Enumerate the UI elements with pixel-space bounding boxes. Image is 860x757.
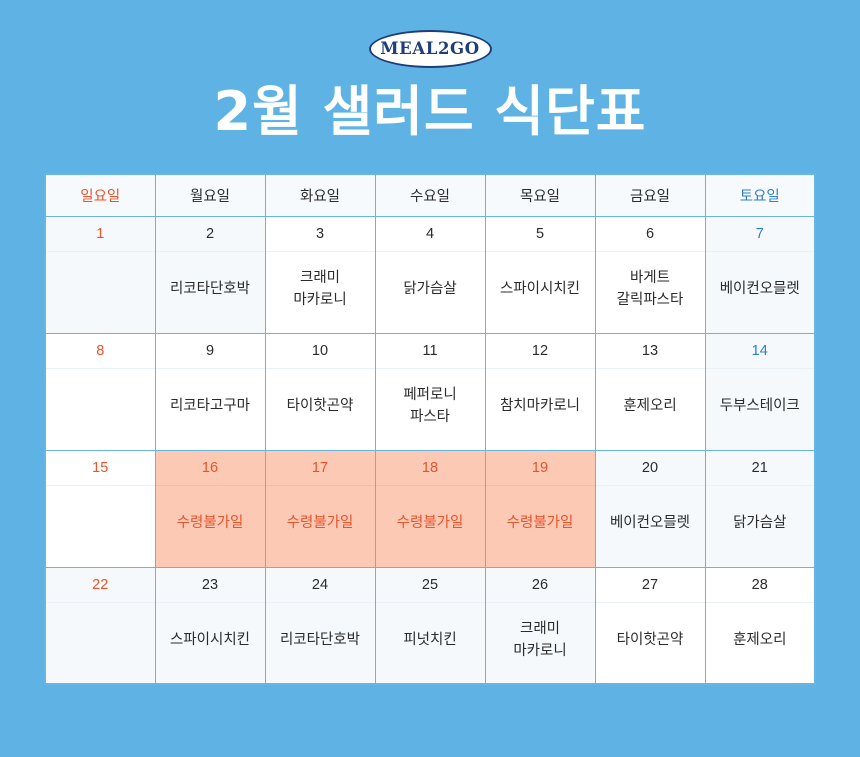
day-number: 27 [596,568,705,603]
day-number: 5 [486,217,595,252]
meal-label [46,486,155,567]
logo-badge: MEAL2GO [369,30,492,68]
day-number: 11 [376,334,485,369]
unavailable-label: 수령불가일 [156,486,265,567]
day-number: 21 [706,451,815,486]
day-cell-content: 24리코타단호박 [266,568,375,684]
meal-label: 피넛치킨 [376,603,485,684]
day-number: 16 [156,451,265,486]
day-cell-content: 12참치마카로니 [486,334,595,450]
meal-label: 바게트 갈릭파스타 [596,252,705,333]
day-number: 20 [596,451,705,486]
day-cell-content: 16수령불가일 [156,451,265,567]
meal-label: 스파이시치킨 [156,603,265,684]
meal-label [46,252,155,333]
weekday-header-0: 일요일 [45,174,155,216]
day-cell-24[interactable]: 24리코타단호박 [265,567,375,684]
day-cell-content: 5스파이시치킨 [486,217,595,333]
day-number: 26 [486,568,595,603]
day-number: 18 [376,451,485,486]
day-number: 19 [486,451,595,486]
day-cell-7[interactable]: 7베이컨오믈렛 [705,216,815,333]
calendar-body: 12리코타단호박3크래미 마카로니4닭가슴살5스파이시치킨6바게트 갈릭파스타7… [45,216,815,684]
day-number: 24 [266,568,375,603]
day-cell-content: 19수령불가일 [486,451,595,567]
day-cell-content: 25피넛치킨 [376,568,485,684]
day-number: 25 [376,568,485,603]
day-cell-content: 23스파이시치킨 [156,568,265,684]
calendar-header-row: 일요일월요일화요일수요일목요일금요일토요일 [45,174,815,216]
day-cell-26[interactable]: 26크래미 마카로니 [485,567,595,684]
day-number: 3 [266,217,375,252]
day-cell-11[interactable]: 11페퍼로니 파스타 [375,333,485,450]
day-cell-3[interactable]: 3크래미 마카로니 [265,216,375,333]
meal-label: 훈제오리 [706,603,815,684]
weekday-header-5: 금요일 [595,174,705,216]
day-cell-content: 7베이컨오믈렛 [706,217,815,333]
day-cell-18[interactable]: 18수령불가일 [375,450,485,567]
day-number: 8 [46,334,155,369]
day-number: 9 [156,334,265,369]
day-cell-content: 17수령불가일 [266,451,375,567]
day-cell-content: 13훈제오리 [596,334,705,450]
day-number: 12 [486,334,595,369]
day-number: 15 [46,451,155,486]
meal-label: 페퍼로니 파스타 [376,369,485,450]
meal-label: 두부스테이크 [706,369,815,450]
day-cell-28[interactable]: 28훈제오리 [705,567,815,684]
day-number: 2 [156,217,265,252]
unavailable-label: 수령불가일 [486,486,595,567]
day-number: 4 [376,217,485,252]
day-cell-4[interactable]: 4닭가슴살 [375,216,485,333]
day-cell-content: 10타이핫곤약 [266,334,375,450]
calendar-week-row: 2223스파이시치킨24리코타단호박25피넛치킨26크래미 마카로니27타이핫곤… [45,567,815,684]
day-number: 23 [156,568,265,603]
unavailable-label: 수령불가일 [266,486,375,567]
unavailable-label: 수령불가일 [376,486,485,567]
meal-label: 크래미 마카로니 [266,252,375,333]
day-cell-content: 14두부스테이크 [706,334,815,450]
day-cell-content: 6바게트 갈릭파스타 [596,217,705,333]
brand-logo: MEAL2GO [369,30,492,68]
day-cell-content: 28훈제오리 [706,568,815,684]
day-cell-14[interactable]: 14두부스테이크 [705,333,815,450]
day-cell-2[interactable]: 2리코타단호박 [155,216,265,333]
day-cell-21[interactable]: 21닭가슴살 [705,450,815,567]
weekday-header-1: 월요일 [155,174,265,216]
day-number: 14 [706,334,815,369]
meal-label: 참치마카로니 [486,369,595,450]
meal-label: 스파이시치킨 [486,252,595,333]
day-cell-13[interactable]: 13훈제오리 [595,333,705,450]
day-number: 22 [46,568,155,603]
day-cell-content: 2리코타단호박 [156,217,265,333]
day-cell-content: 8 [46,334,155,450]
day-cell-content: 4닭가슴살 [376,217,485,333]
meal-label [46,603,155,684]
meal-label: 리코타단호박 [266,603,375,684]
page-title: 2월 샐러드 식단표 [214,82,647,141]
day-cell-5[interactable]: 5스파이시치킨 [485,216,595,333]
weekday-header-6: 토요일 [705,174,815,216]
meal-label: 리코타고구마 [156,369,265,450]
calendar-week-row: 12리코타단호박3크래미 마카로니4닭가슴살5스파이시치킨6바게트 갈릭파스타7… [45,216,815,333]
weekday-header-2: 화요일 [265,174,375,216]
day-cell-content: 11페퍼로니 파스타 [376,334,485,450]
day-number: 6 [596,217,705,252]
meal-label: 크래미 마카로니 [486,603,595,684]
meal-label: 베이컨오믈렛 [596,486,705,567]
day-cell-8[interactable]: 8 [45,333,155,450]
day-number: 13 [596,334,705,369]
calendar-week-row: 1516수령불가일17수령불가일18수령불가일19수령불가일20베이컨오믈렛21… [45,450,815,567]
day-cell-1[interactable]: 1 [45,216,155,333]
day-cell-content: 21닭가슴살 [706,451,815,567]
day-cell-22[interactable]: 22 [45,567,155,684]
day-cell-6[interactable]: 6바게트 갈릭파스타 [595,216,705,333]
day-number: 17 [266,451,375,486]
day-cell-17[interactable]: 17수령불가일 [265,450,375,567]
meal-label: 타이핫곤약 [266,369,375,450]
day-cell-content: 20베이컨오믈렛 [596,451,705,567]
weekday-header-4: 목요일 [485,174,595,216]
meal-label: 타이핫곤약 [596,603,705,684]
logo-text: MEAL2GO [380,41,479,58]
day-cell-10[interactable]: 10타이핫곤약 [265,333,375,450]
day-cell-content: 22 [46,568,155,684]
day-cell-9[interactable]: 9리코타고구마 [155,333,265,450]
day-number: 28 [706,568,815,603]
day-cell-27[interactable]: 27타이핫곤약 [595,567,705,684]
meal-label: 리코타단호박 [156,252,265,333]
day-number: 1 [46,217,155,252]
day-cell-content: 27타이핫곤약 [596,568,705,684]
meal-label: 닭가슴살 [376,252,485,333]
day-cell-content: 18수령불가일 [376,451,485,567]
day-cell-content: 15 [46,451,155,567]
meal-label: 훈제오리 [596,369,705,450]
meal-calendar-page: MEAL2GO 2월 샐러드 식단표 일요일월요일화요일수요일목요일금요일토요일… [0,0,860,757]
day-cell-23[interactable]: 23스파이시치킨 [155,567,265,684]
day-number: 10 [266,334,375,369]
day-cell-12[interactable]: 12참치마카로니 [485,333,595,450]
meal-calendar-table: 일요일월요일화요일수요일목요일금요일토요일 12리코타단호박3크래미 마카로니4… [44,173,816,685]
calendar-week-row: 89리코타고구마10타이핫곤약11페퍼로니 파스타12참치마카로니13훈제오리1… [45,333,815,450]
weekday-header-3: 수요일 [375,174,485,216]
day-cell-20[interactable]: 20베이컨오믈렛 [595,450,705,567]
day-cell-content: 26크래미 마카로니 [486,568,595,684]
day-cell-content: 9리코타고구마 [156,334,265,450]
meal-label: 닭가슴살 [706,486,815,567]
day-cell-content: 1 [46,217,155,333]
day-number: 7 [706,217,815,252]
day-cell-16[interactable]: 16수령불가일 [155,450,265,567]
day-cell-19[interactable]: 19수령불가일 [485,450,595,567]
meal-label [46,369,155,450]
day-cell-25[interactable]: 25피넛치킨 [375,567,485,684]
day-cell-content: 3크래미 마카로니 [266,217,375,333]
meal-label: 베이컨오믈렛 [706,252,815,333]
day-cell-15[interactable]: 15 [45,450,155,567]
